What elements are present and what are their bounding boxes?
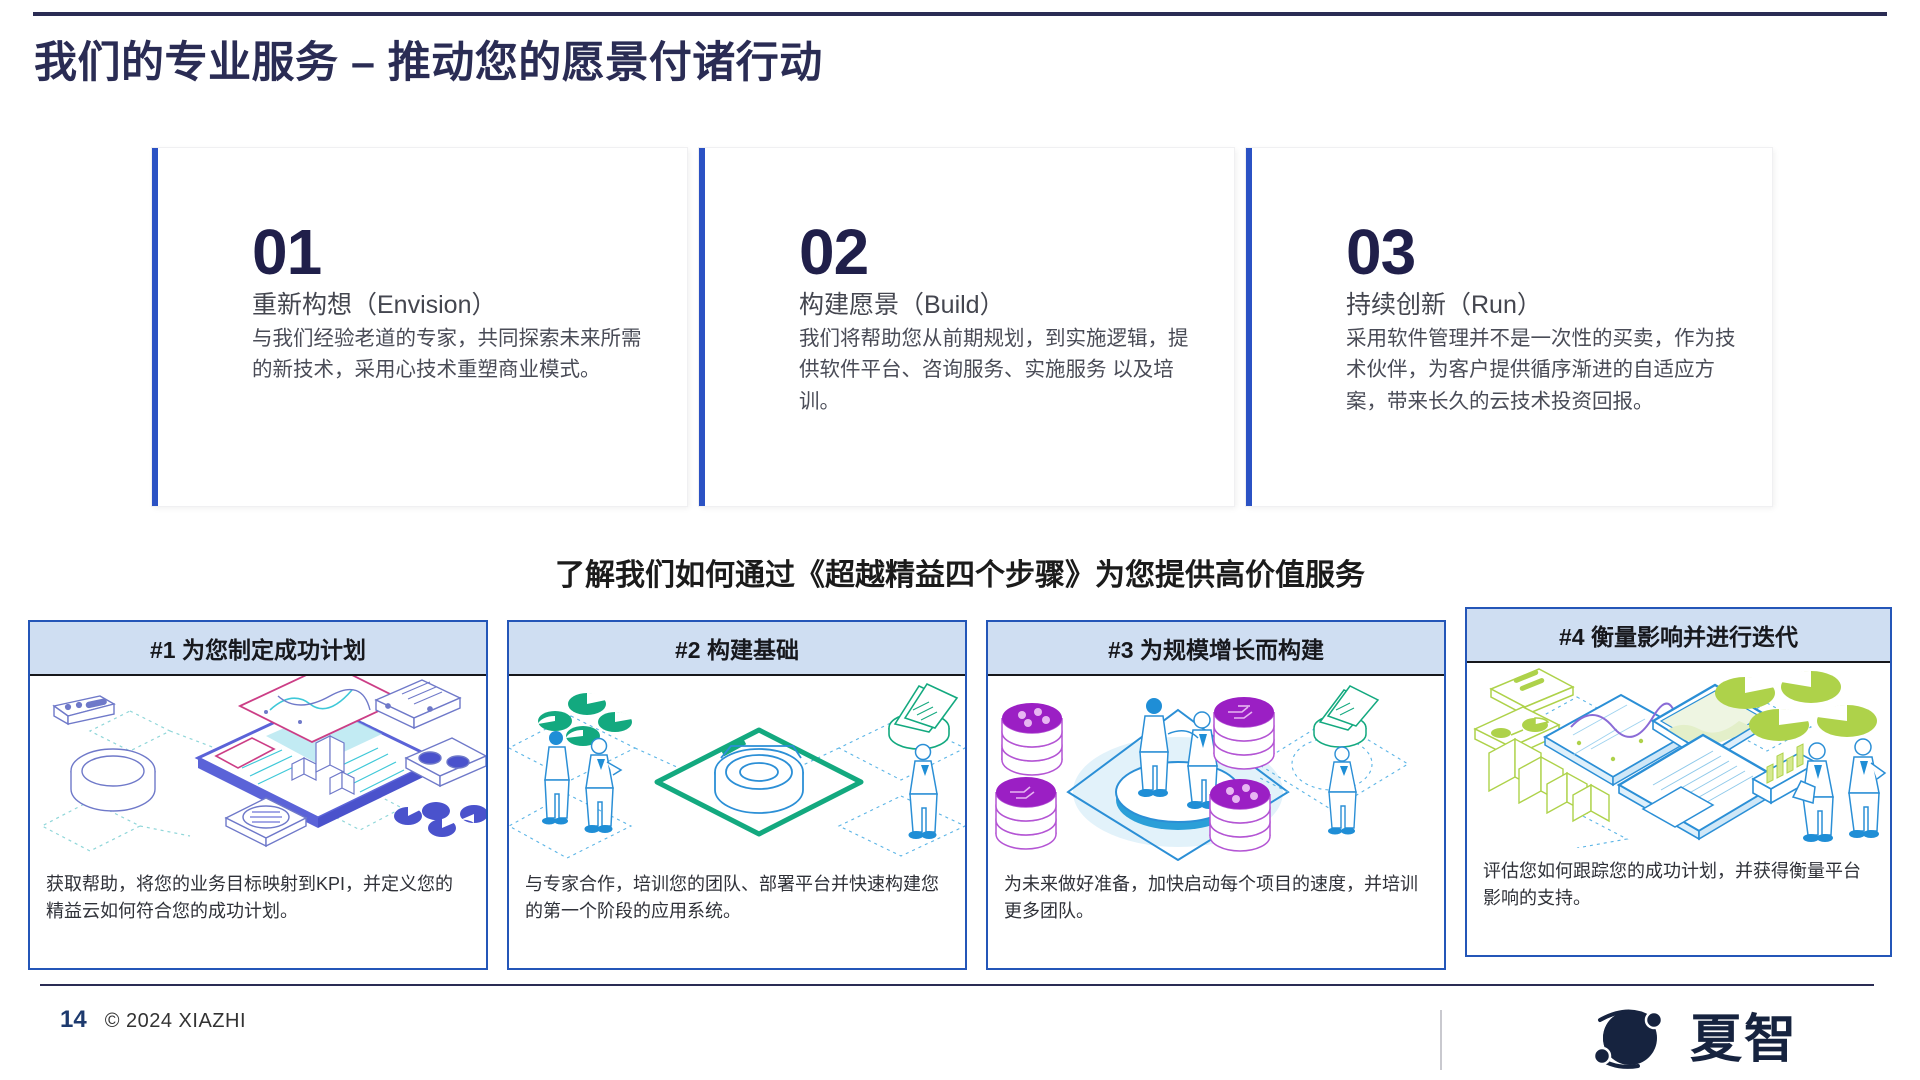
card-number: 03 bbox=[1346, 220, 1742, 284]
card-body: 01 重新构想（Envision） 与我们经验老道的专家，共同探索未来所需的新技… bbox=[252, 220, 657, 386]
isometric-analytics-laptop-illustration bbox=[1467, 663, 1890, 848]
card-heading: 构建愿景（Build） bbox=[799, 290, 1204, 321]
header-rule bbox=[33, 12, 1887, 16]
card-body: 03 持续创新（Run） 采用软件管理并不是一次性的买卖，作为技术伙伴，为客户提… bbox=[1346, 220, 1742, 417]
footer-divider bbox=[1440, 1010, 1442, 1070]
logo-text: 夏智 bbox=[1690, 1014, 1798, 1066]
card-number: 02 bbox=[799, 220, 1204, 284]
service-card[interactable]: 02 构建愿景（Build） 我们将帮助您从前期规划，到实施逻辑，提供软件平台、… bbox=[699, 148, 1234, 506]
isometric-database-scale-illustration bbox=[988, 676, 1444, 861]
step-panel[interactable]: #4 衡量影响并进行迭代 bbox=[1465, 607, 1892, 957]
step-panel-title: #3 为规模增长而构建 bbox=[988, 622, 1444, 676]
step-panel-caption: 获取帮助，将您的业务目标映射到KPI，并定义您的精益云如何符合您的成功计划。 bbox=[30, 861, 486, 925]
service-card[interactable]: 03 持续创新（Run） 采用软件管理并不是一次性的买卖，作为技术伙伴，为客户提… bbox=[1246, 148, 1772, 506]
orbit-circle-logo-icon bbox=[1580, 1000, 1676, 1079]
section-heading: 了解我们如何通过《超越精益四个步骤》为您提供高价值服务 bbox=[0, 550, 1920, 594]
footer-rule bbox=[40, 984, 1874, 986]
service-cards: 01 重新构想（Envision） 与我们经验老道的专家，共同探索未来所需的新技… bbox=[152, 148, 1772, 506]
card-heading: 持续创新（Run） bbox=[1346, 290, 1742, 321]
page-number: 14 bbox=[60, 1006, 87, 1034]
service-card[interactable]: 01 重新构想（Envision） 与我们经验老道的专家，共同探索未来所需的新技… bbox=[152, 148, 687, 506]
card-description: 我们将帮助您从前期规划，到实施逻辑，提供软件平台、咨询服务、实施服务 以及培训。 bbox=[799, 323, 1204, 416]
card-description: 与我们经验老道的专家，共同探索未来所需的新技术，采用心技术重塑商业模式。 bbox=[252, 323, 657, 385]
step-panel-title: #1 为您制定成功计划 bbox=[30, 622, 486, 676]
card-accent-bar bbox=[1246, 148, 1252, 506]
step-panel[interactable]: #1 为您制定成功计划 bbox=[28, 620, 488, 970]
card-number: 01 bbox=[252, 220, 657, 284]
isometric-team-platform-illustration bbox=[509, 676, 965, 861]
card-description: 采用软件管理并不是一次性的买卖，作为技术伙伴，为客户提供循序渐进的自适应方案，带… bbox=[1346, 323, 1742, 416]
card-heading: 重新构想（Envision） bbox=[252, 290, 657, 321]
brand-logo: 夏智 bbox=[1580, 1000, 1798, 1079]
page-title: 我们的专业服务 – 推动您的愿景付诸行动 bbox=[34, 28, 1534, 90]
card-accent-bar bbox=[699, 148, 705, 506]
footer-left: 14 © 2024 XIAZHI bbox=[60, 1006, 246, 1034]
step-panel[interactable]: #3 为规模增长而构建 bbox=[986, 620, 1446, 970]
step-panel-caption: 评估您如何跟踪您的成功计划，并获得衡量平台影响的支持。 bbox=[1467, 848, 1890, 912]
card-body: 02 构建愿景（Build） 我们将帮助您从前期规划，到实施逻辑，提供软件平台、… bbox=[799, 220, 1204, 417]
step-panels: #1 为您制定成功计划 bbox=[0, 620, 1920, 980]
card-accent-bar bbox=[152, 148, 158, 506]
step-panel[interactable]: #2 构建基础 bbox=[507, 620, 967, 970]
step-panel-caption: 为未来做好准备，加快启动每个项目的速度，并培训更多团队。 bbox=[988, 861, 1444, 925]
copyright-text: © 2024 XIAZHI bbox=[105, 1010, 246, 1033]
step-panel-caption: 与专家合作，培训您的团队、部署平台并快速构建您的第一个阶段的应用系统。 bbox=[509, 861, 965, 925]
isometric-dashboard-devices-illustration bbox=[30, 676, 486, 861]
step-panel-title: #2 构建基础 bbox=[509, 622, 965, 676]
step-panel-title: #4 衡量影响并进行迭代 bbox=[1467, 609, 1890, 663]
slide-root: 我们的专业服务 – 推动您的愿景付诸行动 01 重新构想（Envision） 与… bbox=[0, 0, 1920, 1080]
